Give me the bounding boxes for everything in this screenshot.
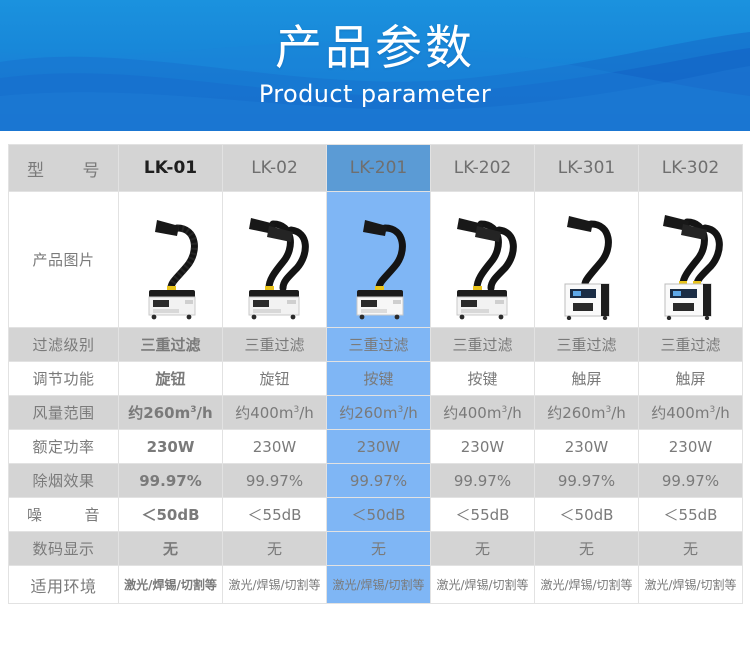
cell-airflow-lk-01: 约260m3/h [119,396,223,430]
product-image-cell-lk-301 [535,192,639,328]
row-label-product-image: 产品图片 [9,192,119,328]
cell-application-lk-201: 激光/焊锡/切割等 [327,566,431,604]
table-row-filter-level: 过滤级别 三重过滤 三重过滤 三重过滤 三重过滤 三重过滤 三重过滤 [9,328,743,362]
cell-smoke-removal-lk-302: 99.97% [639,464,743,498]
cell-filter-level-lk-02: 三重过滤 [223,328,327,362]
cell-adjustment-lk-302: 触屏 [639,362,743,396]
fume-extractor-2arm-lcd-icon [645,200,737,320]
row-label-digital-display: 数码显示 [9,532,119,566]
cell-digital-display-lk-201: 无 [327,532,431,566]
fume-extractor-1arm-icon [127,200,215,320]
cell-adjustment-lk-301: 触屏 [535,362,639,396]
cell-airflow-lk-02: 约400m3/h [223,396,327,430]
cell-rated-power-lk-01: 230W [119,430,223,464]
cell-airflow-lk-301: 约260m3/h [535,396,639,430]
cell-noise-lk-01: ＜50dB [119,498,223,532]
product-image-cell-lk-01 [119,192,223,328]
cell-application-lk-01: 激光/焊锡/切割等 [119,566,223,604]
row-label-airflow: 风量范围 [9,396,119,430]
product-image-cell-lk-202 [431,192,535,328]
cell-adjustment-lk-01: 旋钮 [119,362,223,396]
row-label-rated-power: 额定功率 [9,430,119,464]
cell-airflow-lk-302: 约400m3/h [639,396,743,430]
banner-text-group: 产品参数 Product parameter [0,0,750,131]
cell-filter-level-lk-202: 三重过滤 [431,328,535,362]
cell-noise-lk-202: ＜55dB [431,498,535,532]
cell-filter-level-lk-301: 三重过滤 [535,328,639,362]
cell-adjustment-lk-02: 旋钮 [223,362,327,396]
cell-digital-display-lk-02: 无 [223,532,327,566]
header-label-model: 型 号 [9,145,119,192]
cell-noise-lk-301: ＜50dB [535,498,639,532]
cell-application-lk-02: 激光/焊锡/切割等 [223,566,327,604]
cell-noise-lk-02: ＜55dB [223,498,327,532]
cell-filter-level-lk-302: 三重过滤 [639,328,743,362]
cell-adjustment-lk-201: 按键 [327,362,431,396]
fume-extractor-2arm-icon-2 [437,200,529,320]
table-row-product-image: 产品图片 [9,192,743,328]
fume-extractor-1arm-lcd-icon [543,200,631,320]
row-label-noise: 噪 音 [9,498,119,532]
fume-extractor-1arm-highlight-icon [335,200,423,320]
cell-digital-display-lk-202: 无 [431,532,535,566]
cell-digital-display-lk-01: 无 [119,532,223,566]
cell-digital-display-lk-301: 无 [535,532,639,566]
page-banner: 产品参数 Product parameter [0,0,750,131]
product-image-cell-lk-02 [223,192,327,328]
product-image-cell-lk-201 [327,192,431,328]
cell-rated-power-lk-202: 230W [431,430,535,464]
fume-extractor-2arm-icon [229,200,321,320]
cell-smoke-removal-lk-301: 99.97% [535,464,639,498]
table-row-application: 适用环境 激光/焊锡/切割等 激光/焊锡/切割等 激光/焊锡/切割等 激光/焊锡… [9,566,743,604]
cell-rated-power-lk-201: 230W [327,430,431,464]
cell-airflow-lk-201: 约260m3/h [327,396,431,430]
column-header-lk-301[interactable]: LK-301 [535,145,639,192]
cell-adjustment-lk-202: 按键 [431,362,535,396]
cell-application-lk-302: 激光/焊锡/切割等 [639,566,743,604]
cell-smoke-removal-lk-01: 99.97% [119,464,223,498]
banner-title-cn: 产品参数 [275,23,475,75]
cell-filter-level-lk-201: 三重过滤 [327,328,431,362]
cell-smoke-removal-lk-202: 99.97% [431,464,535,498]
cell-smoke-removal-lk-201: 99.97% [327,464,431,498]
table-row-smoke-removal: 除烟效果 99.97% 99.97% 99.97% 99.97% 99.97% … [9,464,743,498]
column-header-lk-01[interactable]: LK-01 [119,145,223,192]
cell-noise-lk-302: ＜55dB [639,498,743,532]
column-header-lk-02[interactable]: LK-02 [223,145,327,192]
row-label-application: 适用环境 [9,566,119,604]
product-parameter-table: 型 号 LK-01 LK-02 LK-201 LK-202 LK-301 LK-… [8,144,743,604]
cell-application-lk-202: 激光/焊锡/切割等 [431,566,535,604]
column-header-lk-202[interactable]: LK-202 [431,145,535,192]
column-header-lk-302[interactable]: LK-302 [639,145,743,192]
table-row-digital-display: 数码显示 无 无 无 无 无 无 [9,532,743,566]
cell-rated-power-lk-302: 230W [639,430,743,464]
product-image-cell-lk-302 [639,192,743,328]
table-header-row: 型 号 LK-01 LK-02 LK-201 LK-202 LK-301 LK-… [9,145,743,192]
table-row-adjustment: 调节功能 旋钮 旋钮 按键 按键 触屏 触屏 [9,362,743,396]
column-header-lk-201[interactable]: LK-201 [327,145,431,192]
table-row-noise: 噪 音 ＜50dB ＜55dB ＜50dB ＜55dB ＜50dB ＜55dB [9,498,743,532]
cell-airflow-lk-202: 约400m3/h [431,396,535,430]
cell-smoke-removal-lk-02: 99.97% [223,464,327,498]
row-label-filter-level: 过滤级别 [9,328,119,362]
table-row-rated-power: 额定功率 230W 230W 230W 230W 230W 230W [9,430,743,464]
cell-rated-power-lk-301: 230W [535,430,639,464]
cell-rated-power-lk-02: 230W [223,430,327,464]
row-label-smoke-removal: 除烟效果 [9,464,119,498]
cell-noise-lk-201: ＜50dB [327,498,431,532]
banner-title-en: Product parameter [259,79,491,109]
table-row-airflow: 风量范围 约260m3/h 约400m3/h 约260m3/h 约400m3/h… [9,396,743,430]
cell-digital-display-lk-302: 无 [639,532,743,566]
spec-table-container: 型 号 LK-01 LK-02 LK-201 LK-202 LK-301 LK-… [8,144,742,604]
cell-filter-level-lk-01: 三重过滤 [119,328,223,362]
row-label-adjustment: 调节功能 [9,362,119,396]
cell-application-lk-301: 激光/焊锡/切割等 [535,566,639,604]
